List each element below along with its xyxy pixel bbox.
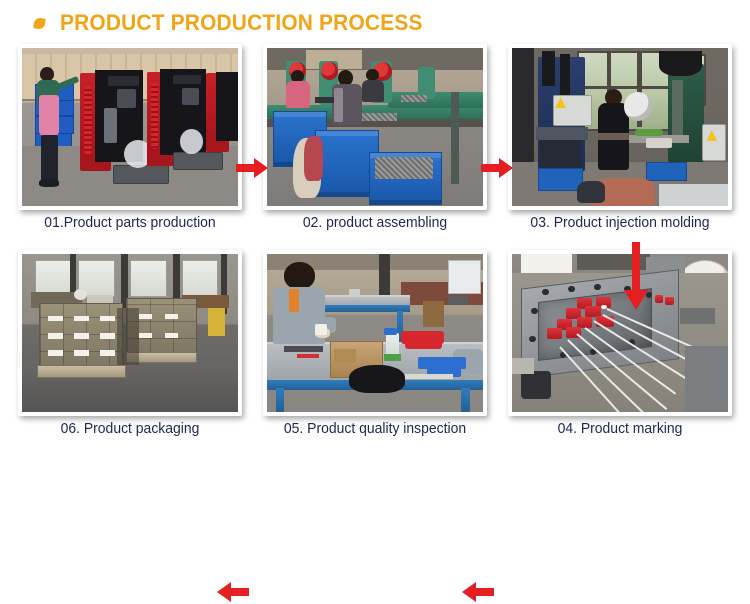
caption-step-02: 02. product assembling	[271, 214, 479, 231]
process-step-05[interactable]: 05. Product quality inspection	[263, 250, 493, 446]
diamond-bullet-icon	[33, 17, 45, 29]
process-step-02[interactable]: 02. product assembling	[263, 44, 493, 240]
photo-product-packaging	[22, 254, 238, 412]
photo-product-marking	[512, 254, 728, 412]
process-row-1: 01.Product parts production	[0, 44, 750, 240]
caption-step-06: 06. Product packaging	[26, 420, 234, 437]
process-step-06[interactable]: 06. Product packaging	[18, 250, 248, 446]
photo-frame-01[interactable]	[18, 44, 242, 210]
photo-injection-molding	[512, 48, 728, 206]
arrow-right-step1-to-step2	[236, 156, 268, 180]
caption-step-04: 04. Product marking	[516, 420, 724, 437]
photo-frame-03[interactable]	[508, 44, 732, 210]
photo-frame-02[interactable]	[263, 44, 487, 210]
caption-step-03: 03. Product injection molding	[516, 214, 724, 231]
process-step-01[interactable]: 01.Product parts production	[18, 44, 248, 240]
photo-frame-05[interactable]	[263, 250, 487, 416]
photo-frame-04[interactable]	[508, 250, 732, 416]
page-title: PRODUCT PRODUCTION PROCESS	[60, 10, 423, 36]
arrow-right-step2-to-step3	[481, 156, 513, 180]
arrow-left-step4-to-step5	[462, 580, 494, 604]
arrow-left-step5-to-step6	[217, 580, 249, 604]
page-header: PRODUCT PRODUCTION PROCESS	[0, 0, 750, 46]
photo-quality-inspection	[267, 254, 483, 412]
photo-parts-production	[22, 48, 238, 206]
arrow-down-step3-to-step4	[622, 242, 650, 310]
process-step-03[interactable]: 03. Product injection molding	[508, 44, 738, 240]
process-grid: 01.Product parts production	[0, 44, 750, 464]
caption-step-01: 01.Product parts production	[26, 214, 234, 231]
photo-frame-06[interactable]	[18, 250, 242, 416]
caption-step-05: 05. Product quality inspection	[271, 420, 479, 437]
photo-product-assembling	[267, 48, 483, 206]
